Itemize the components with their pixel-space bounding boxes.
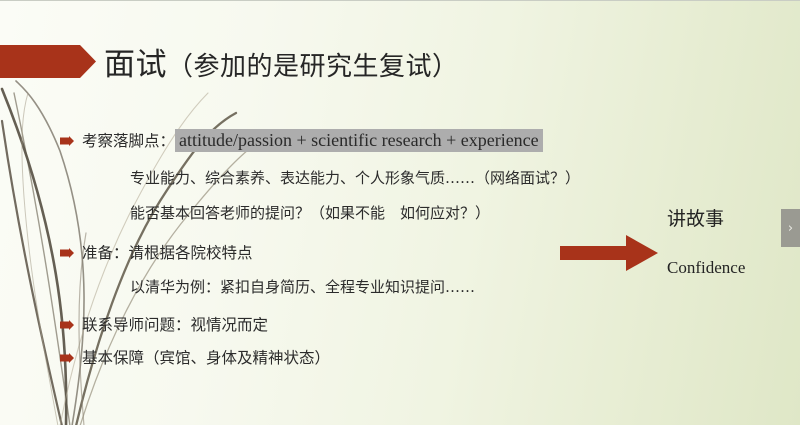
list-item: 准备：请根据各院校特点	[60, 241, 253, 263]
list-item-label: 考察落脚点：	[60, 129, 175, 151]
sub-line: 能否基本回答老师的提问？（如果不能 如何应对？）	[130, 202, 490, 223]
chevron-right-icon: ›	[788, 221, 793, 236]
sub-line-text: 能否基本回答老师的提问？（如果不能 如何应对？）	[130, 202, 490, 223]
sub-line: 专业能力、综合素养、表达能力、个人形象气质……（网络面试？）	[130, 167, 580, 188]
sub-line-text: 以清华为例：紧扣自身简历、全程专业知识提问……	[130, 276, 475, 297]
right-arrow-icon	[560, 235, 658, 271]
callout-chinese-text: 讲故事	[667, 204, 724, 231]
highlighted-phrase: attitude/passion + scientific research +…	[175, 129, 543, 152]
next-slide-button[interactable]: ›	[781, 209, 800, 247]
arrow-bullet-icon	[60, 136, 74, 146]
callout-english-text: Confidence	[667, 258, 745, 278]
list-item-label: 联系导师问题：视情况而定	[60, 313, 268, 335]
sub-line: 以清华为例：紧扣自身简历、全程专业知识提问……	[130, 276, 475, 297]
list-item: 考察落脚点：attitude/passion + scientific rese…	[60, 129, 543, 151]
slide-canvas: 面试（参加的是研究生复试） 考察落脚点：attitude/passion + s…	[0, 0, 800, 425]
arrow-bullet-icon	[60, 248, 74, 258]
list-item: 基本保障（宾馆、身体及精神状态）	[60, 346, 330, 368]
list-item-label: 准备：请根据各院校特点	[60, 241, 253, 263]
list-item-label: 基本保障（宾馆、身体及精神状态）	[60, 346, 330, 368]
list-item: 联系导师问题：视情况而定	[60, 313, 268, 335]
arrow-bullet-icon	[60, 320, 74, 330]
arrow-bullet-icon	[60, 353, 74, 363]
sub-line-text: 专业能力、综合素养、表达能力、个人形象气质……（网络面试？）	[130, 167, 580, 188]
